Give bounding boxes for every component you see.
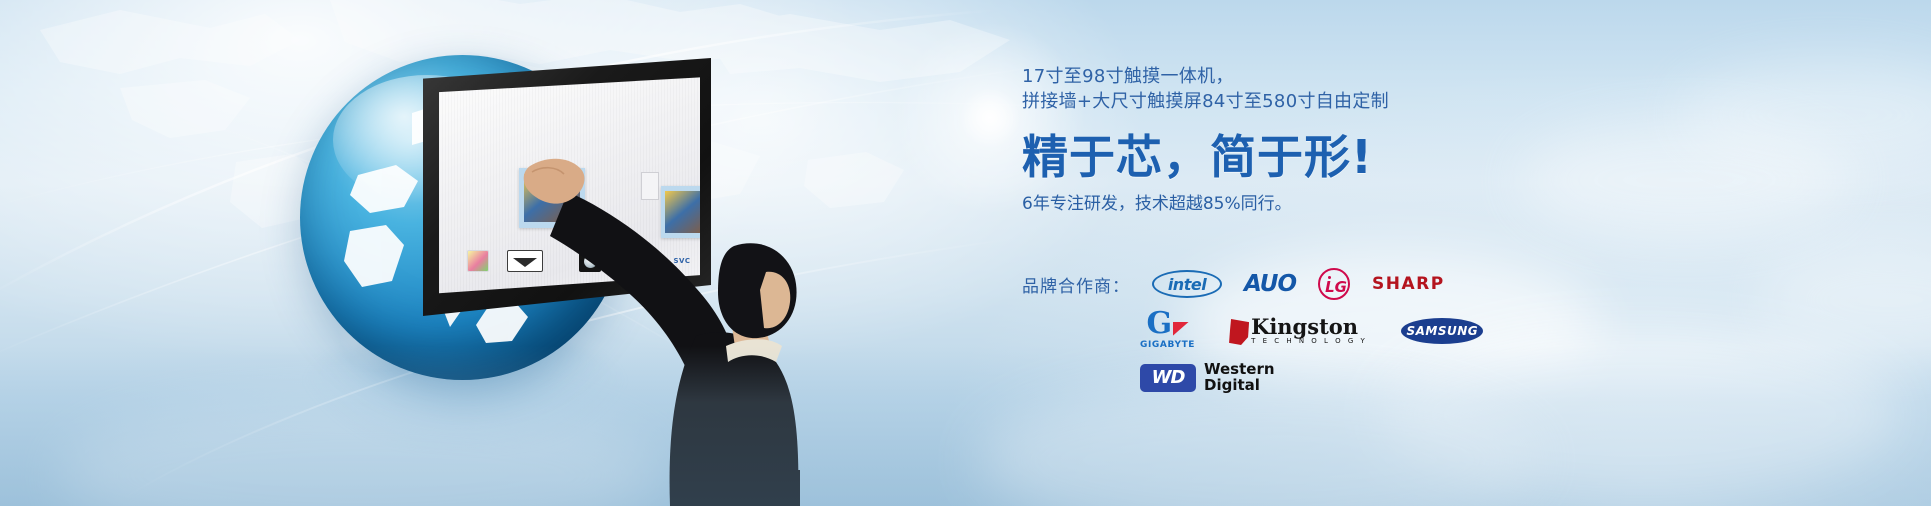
promo-banner: SVC 17寸至98寸触摸一体机， 拼接墙+大尺寸触摸屏84寸至580寸自由定制 [0,0,1931,506]
marketing-copy: 17寸至98寸触摸一体机， 拼接墙+大尺寸触摸屏84寸至580寸自由定制 精于芯… [1022,64,1582,216]
mail-icon[interactable] [507,250,543,272]
wd-logo-text-line2: Digital [1204,378,1275,394]
screen-photo-tile[interactable] [519,168,585,228]
copy-subline: 6年专注研发，技术超越85%同行。 [1022,192,1582,216]
kingston-logo-text: Kingston [1251,317,1367,337]
gigabyte-logo: GIGABYTE [1140,312,1195,350]
kingston-logo-subtext: T E C H N O L O G Y [1251,337,1367,345]
kingston-fist-icon [1229,319,1249,345]
screen-app-bar[interactable]: SVC [463,250,709,274]
touch-display-monitor[interactable]: SVC [423,58,711,316]
auo-logo: AUO [1244,271,1296,297]
browser-icon[interactable] [613,250,635,272]
kingston-logo: Kingston T E C H N O L O G Y [1229,317,1367,345]
cloud-backdrop [0,0,1931,506]
gigabyte-mark-icon [1147,312,1189,338]
brand-partners: 品牌合作商： intel AUO LG SHARP GIGABYTE Kings… [1022,268,1642,394]
lg-logo-text: LG [1325,278,1347,296]
intel-logo: intel [1152,270,1222,298]
sharp-logo: SHARP [1372,274,1445,294]
partners-label: 品牌合作商： [1022,272,1130,297]
light-streaks [0,0,1931,506]
photos-icon[interactable] [467,250,489,272]
screen-note-tile[interactable] [641,172,659,200]
copy-line-1: 17寸至98寸触摸一体机， [1022,64,1582,89]
monitor-screen[interactable]: SVC [439,74,700,300]
page-title: 精于芯，简于形! [1022,132,1582,184]
western-digital-logo: WD Western Digital [1140,362,1275,394]
gigabyte-logo-text: GIGABYTE [1140,340,1195,350]
disc-icon[interactable] [579,250,601,272]
copy-line-2: 拼接墙+大尺寸触摸屏84寸至580寸自由定制 [1022,89,1582,114]
text-icon[interactable]: SVC [665,250,699,272]
samsung-logo: SAMSUNG [1401,318,1483,344]
wd-mark-icon: WD [1140,364,1196,392]
lg-logo: LG [1318,268,1350,300]
